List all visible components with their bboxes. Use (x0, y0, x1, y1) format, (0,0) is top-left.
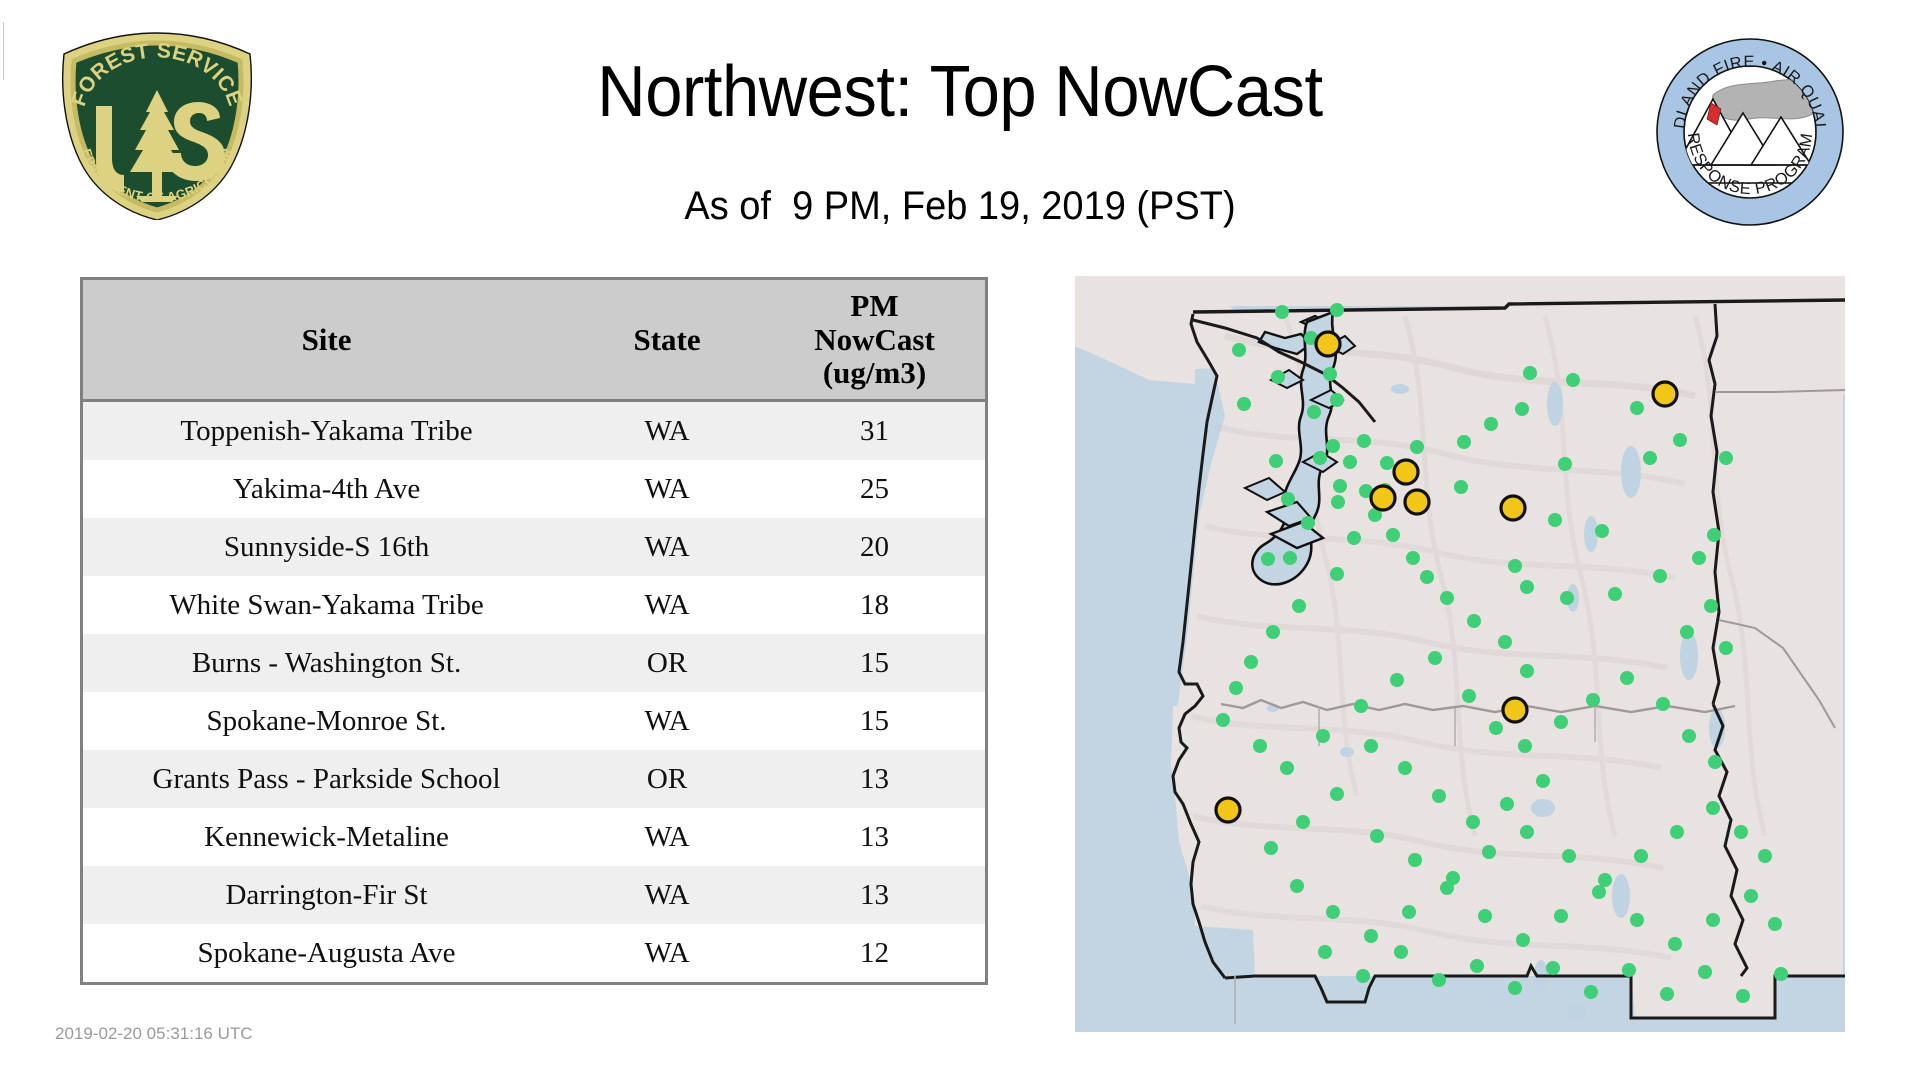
map-marker-good[interactable] (1584, 985, 1598, 999)
map-marker-good[interactable] (1290, 879, 1304, 893)
map-marker-good[interactable] (1261, 552, 1275, 566)
map-marker-good[interactable] (1523, 366, 1537, 380)
map-marker-good[interactable] (1466, 815, 1480, 829)
map-marker-good[interactable] (1216, 713, 1230, 727)
cell-state: WA (570, 518, 764, 576)
map-marker-moderate[interactable] (1316, 332, 1340, 356)
map-marker-good[interactable] (1313, 451, 1327, 465)
map-marker-good[interactable] (1394, 945, 1408, 959)
map-marker-good[interactable] (1331, 495, 1345, 509)
map-marker-moderate[interactable] (1216, 798, 1240, 822)
cell-state: WA (570, 692, 764, 750)
map-marker-good[interactable] (1673, 433, 1687, 447)
map-marker-moderate[interactable] (1371, 486, 1395, 510)
cell-site: Burns - Washington St. (83, 634, 570, 692)
map-marker-good[interactable] (1364, 929, 1378, 943)
cell-state: OR (570, 750, 764, 808)
map-marker-good[interactable] (1595, 524, 1609, 538)
table-row: Sunnyside-S 16th WA 20 (83, 518, 985, 576)
column-header-site: Site (83, 280, 570, 401)
map-marker-good[interactable] (1253, 739, 1267, 753)
column-header-pm-nowcast: PM NowCast (ug/m3) (764, 280, 985, 401)
map-marker-good[interactable] (1454, 480, 1468, 494)
map-marker-good[interactable] (1364, 739, 1378, 753)
cell-site: Spokane-Augusta Ave (83, 924, 570, 982)
cell-site: White Swan-Yakama Tribe (83, 576, 570, 634)
table-header-row: Site State PM NowCast (ug/m3) (83, 280, 985, 401)
cell-state: WA (570, 808, 764, 866)
map-marker-good[interactable] (1516, 933, 1530, 947)
map-marker-good[interactable] (1428, 651, 1442, 665)
map-marker-good[interactable] (1668, 937, 1682, 951)
table-row: Grants Pass - Parkside School OR 13 (83, 750, 985, 808)
map-marker-good[interactable] (1462, 689, 1476, 703)
map-marker-good[interactable] (1370, 829, 1384, 843)
cell-pm-nowcast: 13 (764, 808, 985, 866)
map-marker-good[interactable] (1634, 849, 1648, 863)
map-marker-good[interactable] (1330, 787, 1344, 801)
nowcast-table: Site State PM NowCast (ug/m3) Toppenish-… (80, 277, 988, 985)
map-marker-good[interactable] (1398, 761, 1412, 775)
northwest-air-quality-monitor-map[interactable] (1075, 276, 1845, 1032)
map-marker-good[interactable] (1560, 591, 1574, 605)
map-marker-good[interactable] (1410, 440, 1424, 454)
map-marker-good[interactable] (1244, 655, 1258, 669)
map-marker-good[interactable] (1408, 853, 1422, 867)
cell-site: Grants Pass - Parkside School (83, 750, 570, 808)
map-marker-good[interactable] (1508, 559, 1522, 573)
table-row: Spokane-Monroe St. WA 15 (83, 692, 985, 750)
map-marker-good[interactable] (1682, 729, 1696, 743)
map-marker-good[interactable] (1420, 570, 1434, 584)
map-marker-good[interactable] (1275, 305, 1289, 319)
cell-state: WA (570, 460, 764, 518)
map-marker-good[interactable] (1643, 451, 1657, 465)
map-marker-good[interactable] (1706, 913, 1720, 927)
table-row: Burns - Washington St. OR 15 (83, 634, 985, 692)
map-marker-good[interactable] (1566, 373, 1580, 387)
map-marker-good[interactable] (1598, 873, 1612, 887)
column-header-pm-line1: PM (850, 288, 898, 323)
map-marker-good[interactable] (1536, 774, 1550, 788)
map-marker-good[interactable] (1592, 885, 1606, 899)
table-row: Kennewick-Metaline WA 13 (83, 808, 985, 866)
table-row: Yakima-4th Ave WA 25 (83, 460, 985, 518)
map-marker-moderate[interactable] (1394, 460, 1418, 484)
map-marker-good[interactable] (1706, 801, 1720, 815)
column-header-state: State (570, 280, 764, 401)
map-marker-good[interactable] (1440, 881, 1454, 895)
map-marker-good[interactable] (1774, 967, 1788, 981)
map-marker-good[interactable] (1402, 905, 1416, 919)
map-marker-good[interactable] (1333, 479, 1347, 493)
table-row: Toppenish-Yakama Tribe WA 31 (83, 401, 985, 461)
map-marker-good[interactable] (1622, 963, 1636, 977)
map-marker-good[interactable] (1347, 531, 1361, 545)
map-marker-good[interactable] (1470, 959, 1484, 973)
cell-site: Sunnyside-S 16th (83, 518, 570, 576)
cell-pm-nowcast: 31 (764, 401, 985, 461)
map-marker-good[interactable] (1457, 435, 1471, 449)
map-marker-good[interactable] (1562, 849, 1576, 863)
cell-site: Kennewick-Metaline (83, 808, 570, 866)
map-marker-good[interactable] (1704, 599, 1718, 613)
map-marker-good[interactable] (1232, 343, 1246, 357)
cell-site: Yakima-4th Ave (83, 460, 570, 518)
page-title: Northwest: Top NowCast (67, 56, 1853, 128)
map-marker-good[interactable] (1719, 641, 1733, 655)
map-marker-good[interactable] (1467, 614, 1481, 628)
map-marker-good[interactable] (1736, 989, 1750, 1003)
cell-state: OR (570, 634, 764, 692)
map-marker-good[interactable] (1586, 693, 1600, 707)
map-marker-good[interactable] (1330, 303, 1344, 317)
map-marker-good[interactable] (1281, 492, 1295, 506)
cell-pm-nowcast: 15 (764, 692, 985, 750)
map-marker-moderate[interactable] (1405, 490, 1429, 514)
cell-state: WA (570, 401, 764, 461)
map-marker-good[interactable] (1406, 551, 1420, 565)
map-marker-good[interactable] (1432, 973, 1446, 987)
map-marker-good[interactable] (1670, 825, 1684, 839)
map-marker-good[interactable] (1343, 455, 1357, 469)
map-marker-good[interactable] (1280, 761, 1294, 775)
map-marker-good[interactable] (1692, 551, 1706, 565)
map-marker-good[interactable] (1520, 580, 1534, 594)
map-marker-good[interactable] (1656, 697, 1670, 711)
cell-pm-nowcast: 25 (764, 460, 985, 518)
map-marker-good[interactable] (1484, 417, 1498, 431)
map-marker-good[interactable] (1266, 625, 1280, 639)
cell-site: Spokane-Monroe St. (83, 692, 570, 750)
cell-pm-nowcast: 12 (764, 924, 985, 982)
map-marker-good[interactable] (1744, 889, 1758, 903)
map-marker-good[interactable] (1518, 739, 1532, 753)
cell-pm-nowcast: 13 (764, 866, 985, 924)
map-marker-good[interactable] (1515, 402, 1529, 416)
map-marker-good[interactable] (1768, 917, 1782, 931)
cell-pm-nowcast: 13 (764, 750, 985, 808)
footer-timestamp: 2019-02-20 05:31:16 UTC (55, 1024, 253, 1044)
table-body: Toppenish-Yakama Tribe WA 31 Yakima-4th … (83, 401, 985, 983)
map-marker-good[interactable] (1318, 945, 1332, 959)
map-marker-good[interactable] (1354, 699, 1368, 713)
map-marker-good[interactable] (1269, 454, 1283, 468)
map-marker-good[interactable] (1386, 528, 1400, 542)
map-marker-good[interactable] (1734, 825, 1748, 839)
cell-site: Darrington-Fir St (83, 866, 570, 924)
map-marker-good[interactable] (1489, 721, 1503, 735)
map-marker-good[interactable] (1548, 513, 1562, 527)
map-marker-good[interactable] (1432, 789, 1446, 803)
map-marker-good[interactable] (1356, 969, 1370, 983)
map-marker-moderate[interactable] (1503, 698, 1527, 722)
map-marker-good[interactable] (1264, 841, 1278, 855)
page-subtitle: As of 9 PM, Feb 19, 2019 (PST) (48, 186, 1872, 226)
map-marker-good[interactable] (1758, 849, 1772, 863)
map-marker-moderate[interactable] (1653, 382, 1677, 406)
map-marker-good[interactable] (1380, 456, 1394, 470)
map-marker-good[interactable] (1498, 635, 1512, 649)
map-marker-good[interactable] (1440, 591, 1454, 605)
map-marker-good[interactable] (1326, 439, 1340, 453)
map-marker-good[interactable] (1478, 909, 1492, 923)
map-marker-good[interactable] (1630, 913, 1644, 927)
cell-state: WA (570, 866, 764, 924)
map-marker-good[interactable] (1608, 587, 1622, 601)
map-marker-good[interactable] (1554, 715, 1568, 729)
map-marker-good[interactable] (1237, 397, 1251, 411)
map-marker-good[interactable] (1323, 367, 1337, 381)
map-marker-moderate[interactable] (1501, 496, 1525, 520)
map-marker-good[interactable] (1390, 673, 1404, 687)
map-marker-good[interactable] (1482, 845, 1496, 859)
cell-state: WA (570, 576, 764, 634)
table-row: Spokane-Augusta Ave WA 12 (83, 924, 985, 982)
map-marker-good[interactable] (1326, 905, 1340, 919)
map-marker-good[interactable] (1698, 965, 1712, 979)
map-marker-good[interactable] (1292, 599, 1306, 613)
table-row: White Swan-Yakama Tribe WA 18 (83, 576, 985, 634)
table-row: Darrington-Fir St WA 13 (83, 866, 985, 924)
map-marker-good[interactable] (1630, 401, 1644, 415)
cell-state: WA (570, 924, 764, 982)
column-header-pm-line2: NowCast (814, 322, 935, 357)
map-marker-good[interactable] (1554, 909, 1568, 923)
map-marker-good[interactable] (1660, 987, 1674, 1001)
cell-site: Toppenish-Yakama Tribe (83, 401, 570, 461)
map-marker-good[interactable] (1546, 961, 1560, 975)
map-marker-good[interactable] (1229, 681, 1243, 695)
map-marker-good[interactable] (1357, 434, 1371, 448)
column-header-pm-line3: (ug/m3) (823, 355, 926, 390)
map-marker-good[interactable] (1500, 797, 1514, 811)
map-marker-good[interactable] (1301, 516, 1315, 530)
map-marker-good[interactable] (1283, 551, 1297, 565)
map-marker-good[interactable] (1296, 815, 1310, 829)
map-marker-good[interactable] (1653, 569, 1667, 583)
map-marker-good[interactable] (1620, 671, 1634, 685)
map-marker-good[interactable] (1330, 393, 1344, 407)
map-marker-good[interactable] (1307, 405, 1321, 419)
cell-pm-nowcast: 20 (764, 518, 985, 576)
map-marker-good[interactable] (1719, 451, 1733, 465)
map-marker-good[interactable] (1316, 729, 1330, 743)
map-marker-good[interactable] (1520, 825, 1534, 839)
map-marker-good[interactable] (1520, 664, 1534, 678)
map-marker-good[interactable] (1708, 755, 1722, 769)
map-marker-good[interactable] (1330, 567, 1344, 581)
map-marker-good[interactable] (1707, 528, 1721, 542)
cell-pm-nowcast: 15 (764, 634, 985, 692)
left-edge-artifact (3, 22, 4, 80)
map-marker-good[interactable] (1508, 981, 1522, 995)
map-marker-good[interactable] (1680, 625, 1694, 639)
cell-pm-nowcast: 18 (764, 576, 985, 634)
map-marker-good[interactable] (1271, 370, 1285, 384)
map-marker-good[interactable] (1558, 457, 1572, 471)
